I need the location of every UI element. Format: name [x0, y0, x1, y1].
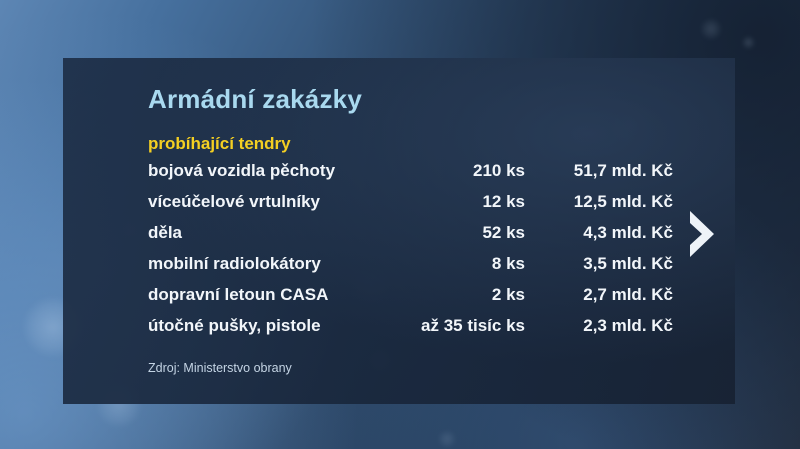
row-amount-value: 2,7 mld. Kč — [525, 285, 673, 305]
row-amount-value: 12,5 mld. Kč — [525, 192, 673, 212]
row-quantity-value: 2 ks — [395, 285, 525, 305]
table-row: děla 52 ks 4,3 mld. Kč — [148, 223, 673, 254]
row-quantity-value: až 35 tisíc ks — [395, 316, 525, 336]
row-item-label: bojová vozidla pěchoty — [148, 161, 395, 181]
row-item-label: mobilní radiolokátory — [148, 254, 395, 274]
table-row: dopravní letoun CASA 2 ks 2,7 mld. Kč — [148, 285, 673, 316]
bokeh-light — [438, 430, 456, 448]
row-item-label: děla — [148, 223, 395, 243]
panel-title: Armádní zakázky — [148, 84, 362, 115]
slide-canvas: Armádní zakázky probíhající tendry bojov… — [0, 0, 800, 449]
bokeh-light — [742, 36, 755, 49]
row-quantity-value: 52 ks — [395, 223, 525, 243]
row-quantity-value: 8 ks — [395, 254, 525, 274]
row-item-label: víceúčelové vrtulníky — [148, 192, 395, 212]
source-attribution: Zdroj: Ministerstvo obrany — [148, 361, 292, 375]
panel-subtitle: probíhající tendry — [148, 134, 291, 154]
row-amount-value: 4,3 mld. Kč — [525, 223, 673, 243]
chevron-right-icon[interactable] — [686, 209, 718, 259]
table-row: mobilní radiolokátory 8 ks 3,5 mld. Kč — [148, 254, 673, 285]
table-row: útočné pušky, pistole až 35 tisíc ks 2,3… — [148, 316, 673, 347]
table-row: bojová vozidla pěchoty 210 ks 51,7 mld. … — [148, 161, 673, 192]
table-row: víceúčelové vrtulníky 12 ks 12,5 mld. Kč — [148, 192, 673, 223]
row-amount-value: 51,7 mld. Kč — [525, 161, 673, 181]
row-quantity-value: 12 ks — [395, 192, 525, 212]
row-item-label: útočné pušky, pistole — [148, 316, 395, 336]
row-item-label: dopravní letoun CASA — [148, 285, 395, 305]
row-quantity-value: 210 ks — [395, 161, 525, 181]
row-amount-value: 2,3 mld. Kč — [525, 316, 673, 336]
row-amount-value: 3,5 mld. Kč — [525, 254, 673, 274]
info-panel: Armádní zakázky probíhající tendry bojov… — [63, 58, 735, 404]
bokeh-light — [700, 18, 722, 40]
tenders-table: bojová vozidla pěchoty 210 ks 51,7 mld. … — [148, 161, 673, 347]
